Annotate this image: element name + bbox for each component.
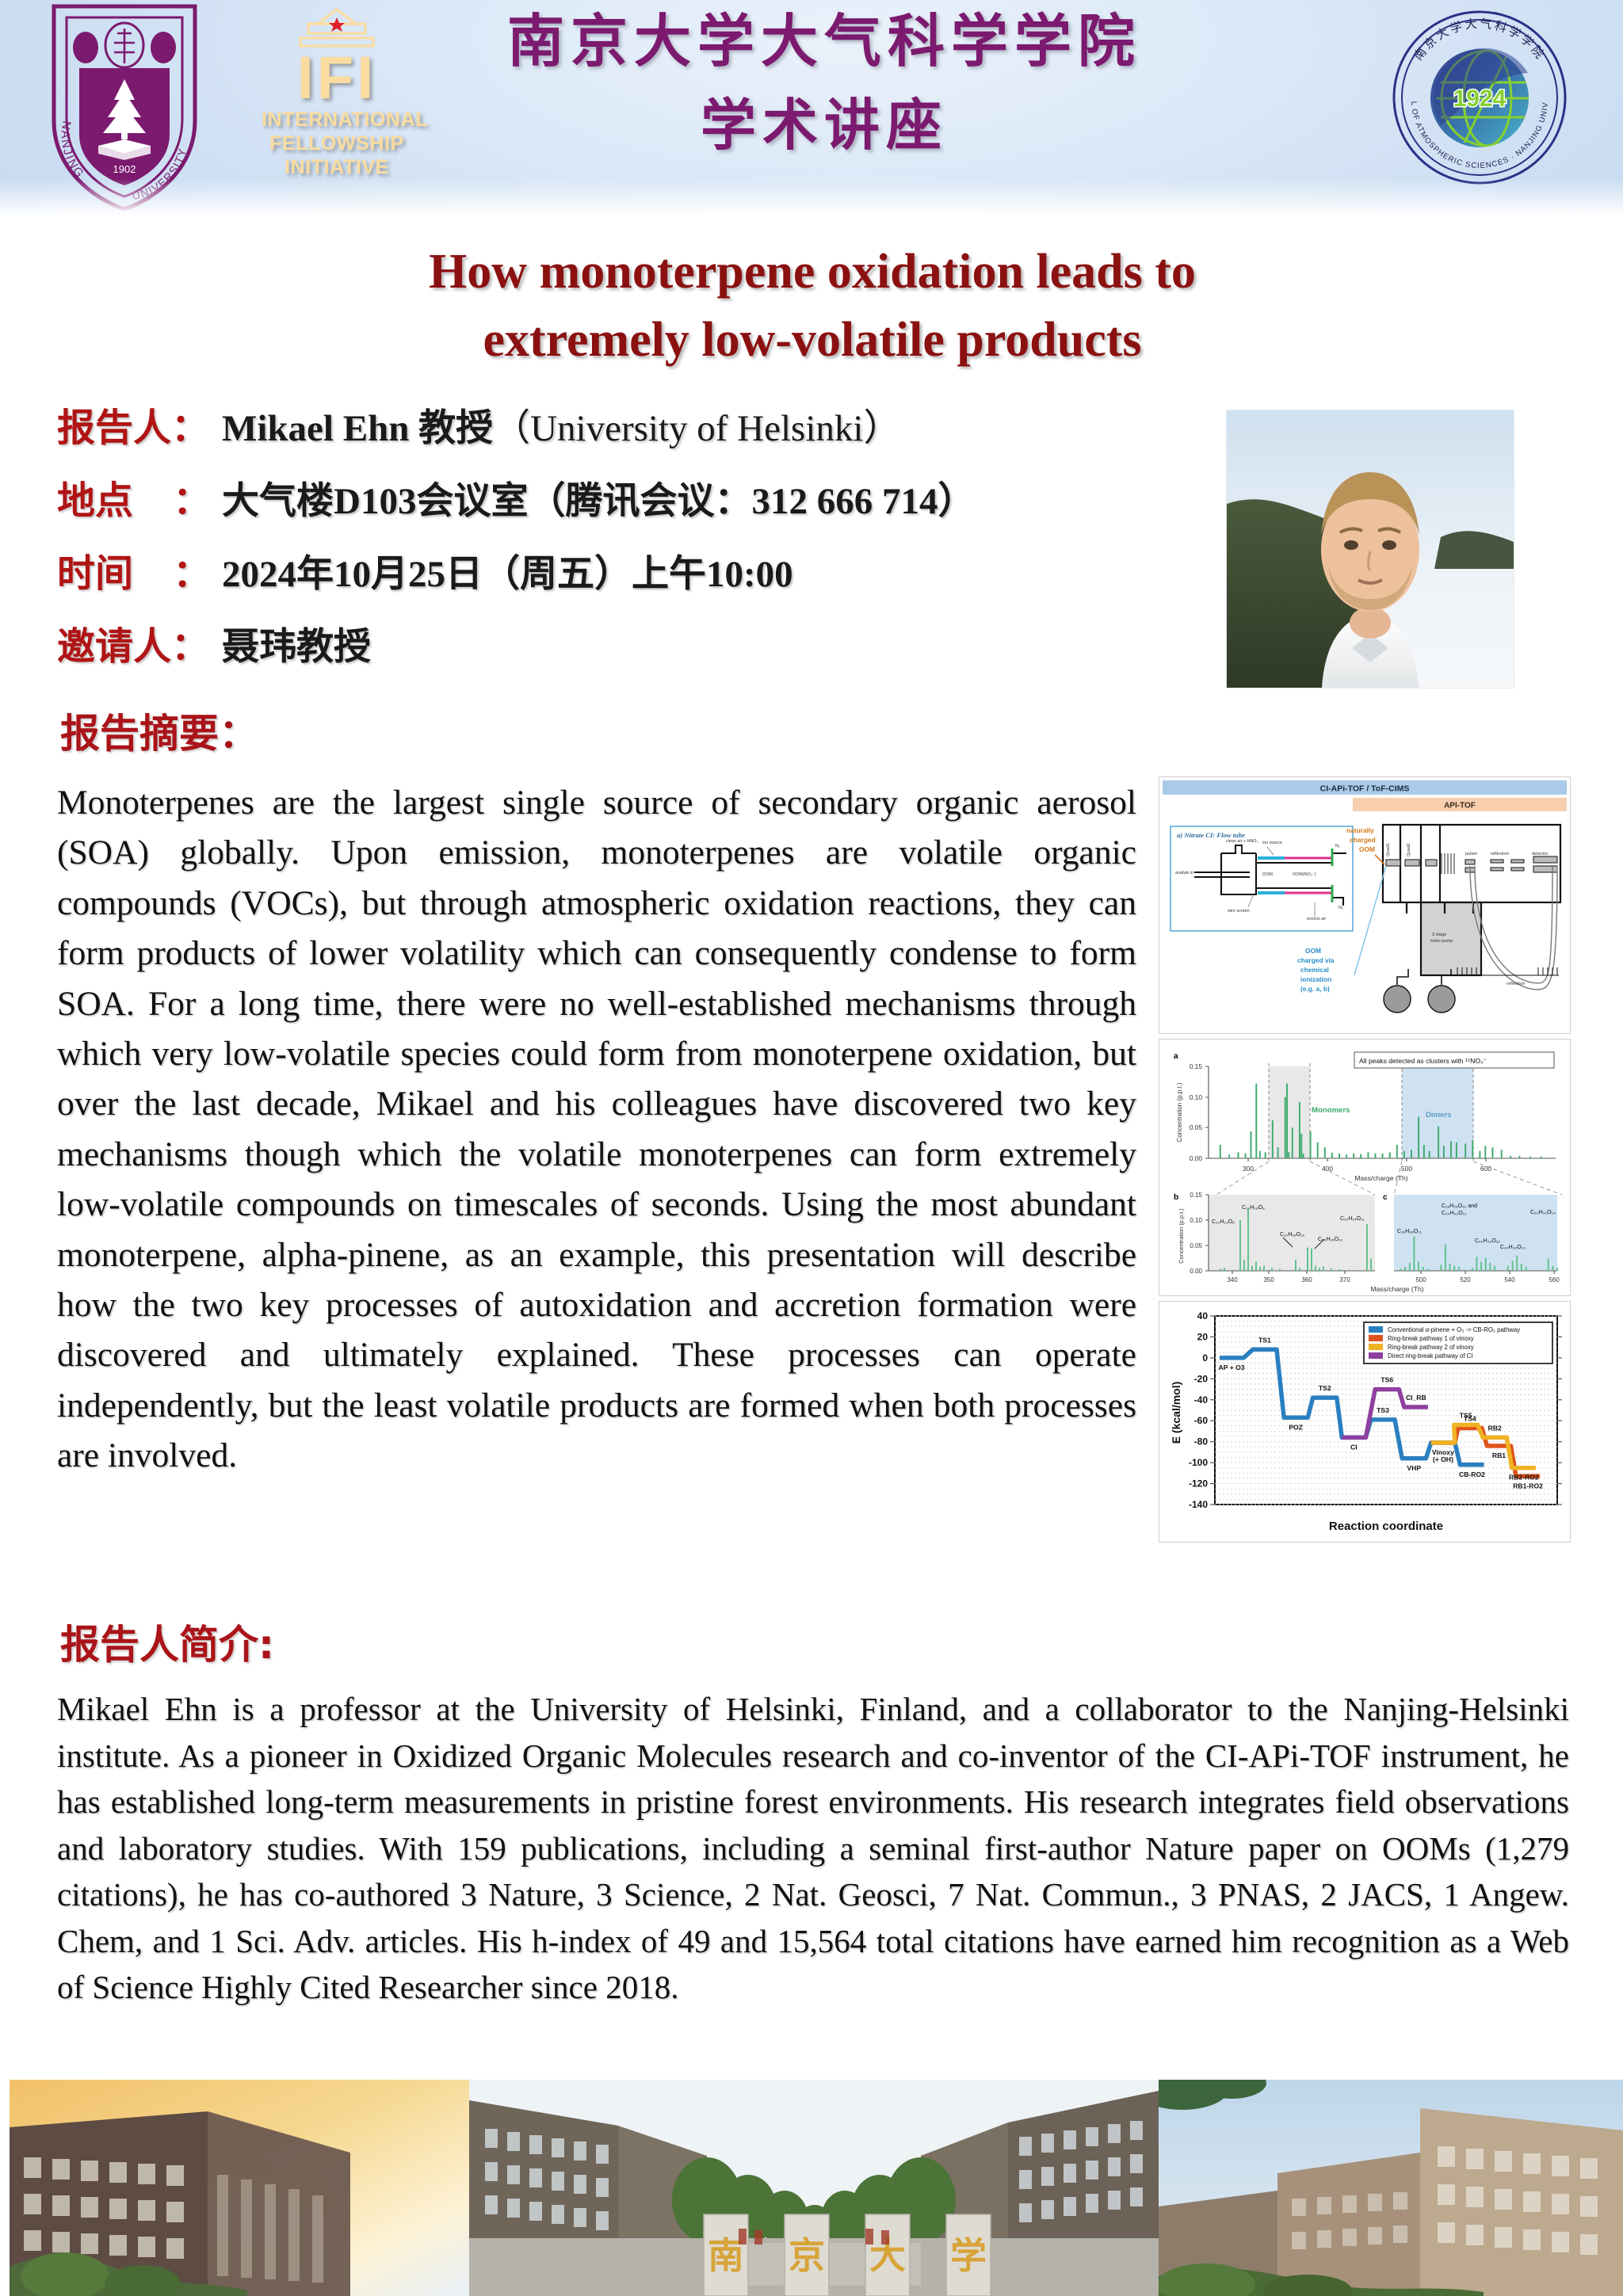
fig2-xlabel-a: Mass/charge (Th): [1354, 1174, 1407, 1182]
campus-photo-sunset-building: [10, 2080, 469, 2296]
detail-row-venue: 地点 ： 大气楼D103会议室（腾讯会议：312 666 714）: [57, 469, 1182, 524]
fig2-ylabel: Concentration (p.p.t.): [1176, 1082, 1183, 1142]
svg-text:560: 560: [1549, 1276, 1560, 1283]
fig3-state-label: RB2-RO2: [1509, 1474, 1539, 1482]
svg-text:370: 370: [1339, 1276, 1350, 1283]
fig3-ytick: -40: [1194, 1394, 1209, 1405]
svg-text:ion source: ion source: [1262, 841, 1282, 845]
abstract-heading: 报告摘要：: [60, 702, 258, 759]
fig3-state-label: POZ: [1289, 1423, 1303, 1431]
svg-text:350: 350: [1263, 1276, 1274, 1283]
fig2-c-formula-label: C₂₀H₃₂O₁₁: [1442, 1211, 1467, 1216]
host-label: 邀请人：: [57, 615, 222, 670]
fig3-ytick: -140: [1189, 1499, 1208, 1510]
venue-label: 地点 ：: [57, 469, 222, 524]
host-value: 聂玮教授: [222, 616, 371, 670]
campus-photo-strip: 南京 大学: [0, 2080, 1623, 2296]
svg-text:0.00: 0.00: [1190, 1154, 1203, 1162]
detail-row-time: 时间 ： 2024年10月25日（周五）上午10:00: [57, 542, 1182, 597]
fig2-panel-b-label: b: [1174, 1193, 1178, 1202]
svg-text:360: 360: [1301, 1276, 1312, 1283]
svg-text:OOM: OOM: [1262, 872, 1273, 877]
fig3-legend-swatch: [1369, 1352, 1383, 1359]
lecture-series-label: 学术讲座: [372, 87, 1276, 163]
svg-text:340: 340: [1227, 1276, 1238, 1283]
fig2-ylabel-b: Concentration (p.p.t.): [1178, 1208, 1185, 1263]
svg-text:0.10: 0.10: [1190, 1217, 1202, 1224]
fig3-state-label: TS1: [1258, 1336, 1271, 1344]
svg-text:0.15: 0.15: [1190, 1062, 1203, 1070]
fig3-legend-swatch: [1369, 1335, 1383, 1341]
fig2-xlabel-bc: Mass/charge (Th): [1370, 1285, 1423, 1293]
svg-text:wire screen: wire screen: [1227, 909, 1250, 913]
svg-text:学: 学: [950, 2234, 987, 2277]
svg-text:reflectron: reflectron: [1507, 982, 1525, 986]
svg-text:charged: charged: [1350, 836, 1376, 844]
fig3-legend-swatch: [1369, 1344, 1383, 1350]
fig3-ytick: -60: [1194, 1415, 1209, 1426]
svg-text:pulser: pulser: [1465, 852, 1477, 856]
svg-text:ionization: ionization: [1300, 975, 1331, 983]
svg-text:clean air + HNO₃: clean air + HNO₃: [1226, 839, 1258, 844]
fig3-ytick: 20: [1197, 1331, 1209, 1342]
fig3-ytick: 0: [1202, 1352, 1208, 1363]
fig3-state-label: CI: [1350, 1443, 1358, 1451]
svg-text:600: 600: [1480, 1165, 1491, 1173]
campus-photo-main-avenue-monoliths: 南京 大学: [469, 2080, 1159, 2296]
figure-energy-diagram: -140-120-100-80-60-40-2002040 E (kcal/mo…: [1159, 1301, 1571, 1543]
svg-text:analyte in: analyte in: [1175, 871, 1193, 875]
speaker-portrait-photo: [1227, 410, 1514, 688]
crest-year: 1902: [113, 163, 136, 175]
fig3-state-label: CI_RB: [1406, 1394, 1426, 1402]
svg-text:N₂: N₂: [1335, 844, 1340, 849]
fig3-legend-swatch: [1369, 1326, 1383, 1333]
svg-text:300: 300: [1243, 1165, 1254, 1173]
fig3-legend-label: Ring-break pathway 1 of vinoxy: [1388, 1335, 1474, 1342]
fig2-c-formula-label: C₂₀H₃₂O₁₃: [1500, 1245, 1526, 1250]
bio-body-text: Mikael Ehn is a professor at the Univers…: [57, 1686, 1569, 2011]
svg-text:charged via: charged via: [1297, 956, 1335, 964]
svg-text:OOM(NO₃⁻): OOM(NO₃⁻): [1293, 872, 1316, 877]
nanjing-university-crest-logo: 1902 NANJING UNIVERSITY: [46, 2, 203, 214]
fig3-state-label: TS3: [1377, 1406, 1389, 1414]
header-banner: 1902 NANJING UNIVERSITY IFI INTERNATIONA…: [0, 0, 1623, 215]
bio-heading: 报告人简介:: [60, 1613, 274, 1670]
fig3-ytick: -80: [1194, 1436, 1209, 1447]
fig2-b-formula-label: C₁₀H₁₄O₈: [1212, 1219, 1235, 1225]
svg-text:500: 500: [1401, 1165, 1412, 1173]
fig3-state-label: AP + O3: [1219, 1363, 1245, 1371]
figure-instrument-schematic: CI-APi-TOF / ToF-CIMS API-TOF a) Nitrate…: [1159, 776, 1571, 1034]
svg-text:3 stage: 3 stage: [1432, 933, 1446, 937]
detail-row-host: 邀请人： 聂玮教授: [57, 615, 1182, 670]
fig2-annotation-box: All peaks detected as clusters with ¹⁵NO…: [1359, 1057, 1487, 1065]
fig3-state-label: CB-RO2: [1459, 1470, 1485, 1478]
campus-photo-academic-buildings: [1159, 2080, 1623, 2296]
detail-row-speaker: 报告人： Mikael Ehn 教授（University of Helsink…: [57, 396, 1182, 452]
header-title-group: 南京大学大气科学学院 学术讲座: [372, 5, 1276, 163]
fig3-legend-label: Conventional α-pinene + O₃ -> CB-RO₂ pat…: [1388, 1326, 1520, 1333]
fig2-panel-a-label: a: [1174, 1052, 1178, 1061]
fig3-legend-label: Direct ring-break pathway of CI: [1388, 1352, 1472, 1360]
svg-text:naturally: naturally: [1346, 826, 1374, 834]
fig1-banner-left-label: CI-APi-TOF / ToF-CIMS: [1320, 784, 1410, 794]
org-name-line: 南京大学大气科学学院: [372, 5, 1276, 78]
fig2-panel-c-label: c: [1383, 1193, 1388, 1202]
svg-text:500: 500: [1415, 1276, 1426, 1283]
fig1-inset-title: a) Nitrate CI: Flow tube: [1177, 831, 1245, 839]
fig3-ytick: -120: [1189, 1478, 1208, 1489]
fig2-c-formula-label: C₂₀H₃₂O₁₄: [1530, 1210, 1556, 1215]
speaker-value: Mikael Ehn 教授（University of Helsinki）: [222, 397, 900, 452]
talk-title: How monoterpene oxidation leads to extre…: [238, 238, 1387, 374]
sas-logo-year: 1924: [1453, 86, 1507, 112]
event-details-block: 报告人： Mikael Ehn 教授（University of Helsink…: [57, 396, 1182, 688]
svg-text:detector: detector: [1532, 852, 1548, 856]
fig3-state-label: (+ OH): [1433, 1455, 1453, 1463]
fig3-ytick: -100: [1189, 1457, 1208, 1468]
svg-text:reflectron: reflectron: [1491, 852, 1509, 856]
fig2-b-formula-label: C₁₀H₁₆O₉: [1242, 1205, 1265, 1211]
figure-mass-spectrum: a 0.15 0.10 0.05 0.00 300 400 500 600: [1159, 1039, 1571, 1296]
fig2-c-formula-label: C₁₉H₂₈O₁₁: [1397, 1229, 1423, 1234]
svg-text:0.10: 0.10: [1190, 1093, 1203, 1101]
speaker-label: 报告人：: [57, 396, 222, 452]
fig3-xlabel: Reaction coordinate: [1329, 1520, 1443, 1533]
fig3-state-label: TS5: [1460, 1412, 1472, 1420]
svg-text:0.05: 0.05: [1190, 1242, 1202, 1249]
abstract-body-text: Monoterpenes are the largest single sour…: [57, 778, 1136, 1482]
time-label: 时间 ：: [57, 542, 222, 597]
speaker-affiliation: （University of Helsinki）: [493, 408, 900, 449]
svg-text:N₂: N₂: [1338, 906, 1343, 910]
fig1-banner-right-label: API-TOF: [1444, 802, 1476, 810]
svg-text:0.00: 0.00: [1190, 1268, 1202, 1275]
fig2-b-formula-label: C₁₀H₁₄O₁₁: [1340, 1216, 1365, 1222]
svg-text:京: 京: [789, 2234, 825, 2277]
svg-text:chemical: chemical: [1300, 966, 1329, 974]
fig3-state-label: RB1-RO2: [1513, 1482, 1543, 1489]
fig2-c-formula-label: C₁₉H₂₈O₁₂ and: [1442, 1203, 1477, 1209]
svg-text:0.05: 0.05: [1190, 1123, 1203, 1131]
svg-text:(e.g. a, b): (e.g. a, b): [1300, 985, 1330, 993]
fig3-state-label: TS2: [1319, 1384, 1331, 1392]
venue-value: 大气楼D103会议室（腾讯会议：312 666 714）: [222, 470, 975, 524]
fig2-monomers-label: Monomers: [1312, 1106, 1350, 1115]
fig2-c-formula-label: C₂₀H₃₀O₁₂: [1475, 1238, 1500, 1244]
fig2-dimers-label: Dimers: [1426, 1111, 1452, 1119]
svg-text:540: 540: [1504, 1276, 1515, 1283]
fig3-ytick: -20: [1194, 1373, 1209, 1384]
svg-text:excess air: excess air: [1307, 917, 1326, 921]
figure-column: CI-APi-TOF / ToF-CIMS API-TOF a) Nitrate…: [1159, 776, 1571, 1547]
fig3-state-label: TS6: [1381, 1376, 1393, 1384]
svg-text:OOM: OOM: [1359, 845, 1375, 853]
svg-text:520: 520: [1460, 1276, 1471, 1283]
svg-text:Quad1: Quad1: [1386, 843, 1391, 856]
svg-text:0.15: 0.15: [1190, 1192, 1202, 1199]
svg-text:Quad2: Quad2: [1407, 843, 1411, 856]
talk-title-line2: extremely low-volatile products: [238, 306, 1387, 374]
svg-text:OOM: OOM: [1305, 947, 1321, 955]
fig3-ylabel: E (kcal/mol): [1170, 1382, 1182, 1444]
talk-title-line1: How monoterpene oxidation leads to: [238, 238, 1387, 306]
fig3-legend-label: Ring-break pathway 2 of vinoxy: [1388, 1344, 1474, 1351]
fig3-ytick: 40: [1197, 1310, 1209, 1322]
fig3-state-label: RB1: [1492, 1451, 1506, 1459]
fig2-b-formula-label: C₁₀H₁₆O₁₀: [1280, 1232, 1304, 1238]
fig3-state-label: RB2: [1488, 1424, 1502, 1432]
svg-text:turbo pump: turbo pump: [1430, 939, 1453, 944]
fig3-state-label: VHP: [1407, 1464, 1421, 1472]
time-value: 2024年10月25日（周五）上午10:00: [222, 543, 793, 597]
school-of-atmospheric-sciences-logo: 1924 南京大学大气科学学院 SCHOOL OF ATMOSPHERIC SC…: [1388, 6, 1571, 189]
